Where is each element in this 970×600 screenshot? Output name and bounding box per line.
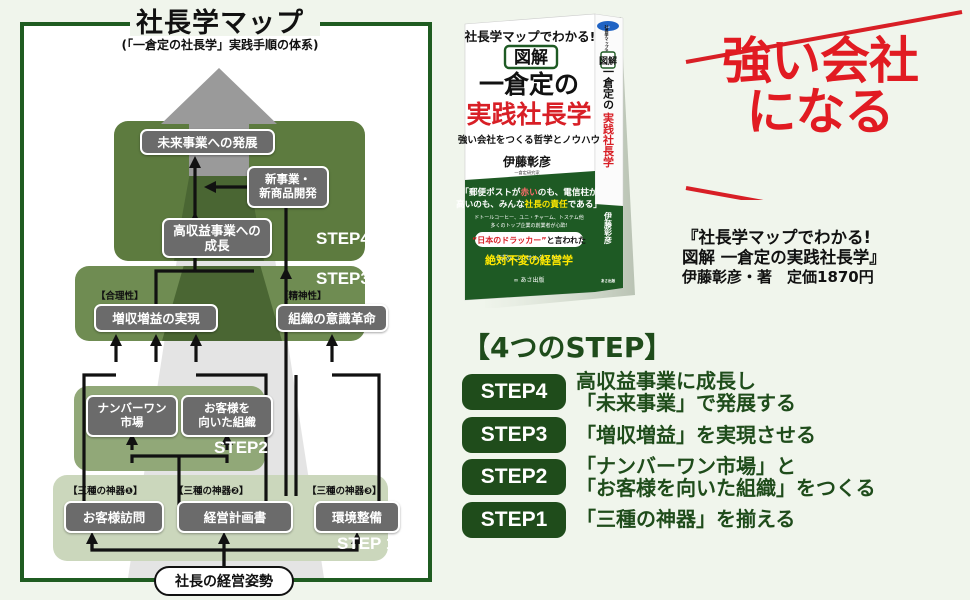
tag-jinki-3: 【三種の神器❸】	[307, 483, 382, 497]
step-desc-2: 「ナンバーワン市場」と 「お客様を向いた組織」をつくる	[576, 455, 876, 500]
node-business-plan: 経営計画書	[177, 501, 293, 533]
step-list-item[interactable]: STEP2 「ナンバーワン市場」と 「お客様を向いた組織」をつくる	[458, 455, 970, 500]
svg-text:“日本のドラッカー”と言われた: “日本のドラッカー”と言われた	[472, 235, 586, 245]
svg-text:多くのトップ企業の創業者が心酔!: 多くのトップ企業の創業者が心酔!	[490, 222, 567, 229]
caption-line-3: 伊藤彰彦・著 定価1870円	[682, 268, 970, 286]
svg-text:∞ あさ出版: ∞ あさ出版	[514, 276, 545, 284]
svg-text:実践社長学: 実践社長学	[602, 111, 616, 168]
book-title-2: 実践社長学	[466, 100, 591, 129]
page-title: 社長学マップ	[0, 1, 440, 40]
tag-jinki-1: 【三種の神器❶】	[68, 483, 143, 497]
node-revenue-growth: 増収増益の実現	[94, 304, 218, 332]
step1-label: STEP 1	[337, 534, 395, 554]
step-list-item[interactable]: STEP4 高収益事業に成長し 「未来事業」で発展する	[458, 370, 970, 415]
step4-label: STEP4	[316, 229, 370, 249]
node-president-stance: 社長の経営姿勢	[154, 566, 294, 596]
svg-text:絶対不変の経営学: 絶対不変の経営学	[485, 253, 573, 267]
tag-jinki-2: 【三種の神器❷】	[174, 483, 249, 497]
svg-text:ドトールコーヒー、ユニ・チャーム、トステム他: ドトールコーヒー、ユニ・チャーム、トステム他	[474, 214, 584, 221]
node-future-business: 未来事業への発展	[140, 129, 275, 155]
page-subtitle: (「一倉定の社長学」実践手順の体系)	[0, 36, 440, 53]
step-desc-4: 高収益事業に成長し 「未来事業」で発展する	[576, 370, 796, 415]
node-org-revolution: 組織の意識革命	[276, 304, 388, 332]
step-list-panel: 【4つのSTEP】 STEP4 高収益事業に成長し 「未来事業」で発展する ST…	[458, 326, 970, 600]
book-zukai: 図解	[514, 47, 548, 68]
book-caption: 『社長学マップでわかる! 図解 一倉定の実践社長学』 伊藤彰彦・著 定価1870…	[682, 228, 970, 287]
node-customer-org: お客様を向いた組織	[181, 395, 273, 437]
diagram-canvas: STEP4 STEP3 STEP2 STEP 1 【合理性】 【精神性】 【三種…	[24, 26, 428, 578]
svg-text:一倉定の: 一倉定の	[602, 66, 616, 110]
step-list-item[interactable]: STEP1 「三種の神器」を揃える	[458, 502, 970, 538]
svg-text:伊藤彰彦: 伊藤彰彦	[603, 211, 613, 245]
node-environment: 環境整備	[314, 501, 400, 533]
headline-block: 強い会社 になる	[676, 0, 970, 200]
step2-label: STEP2	[214, 438, 268, 458]
step-desc-3: 「増収増益」を実現させる	[576, 424, 816, 446]
step3-label: STEP3	[316, 269, 370, 289]
step-desc-1: 「三種の神器」を揃える	[576, 508, 795, 530]
svg-text:あさ出版: あさ出版	[601, 278, 616, 283]
book-cover-image: ∞ 社長学マップでわかる! 図解 一倉定の 実践社長学 強い会社をつくる哲学とノ…	[455, 8, 640, 308]
book-band-top: 社長学マップでわかる!	[464, 29, 596, 44]
step-list-title: 【4つのSTEP】	[462, 326, 970, 366]
book-tagline: 強い会社をつくる哲学とノウハウ	[458, 134, 600, 146]
svg-text:高いのも、みんな社長の責任である」: 高いのも、みんな社長の責任である」	[456, 198, 602, 210]
step-list-item[interactable]: STEP3 「増収増益」を実現させる	[458, 417, 970, 453]
caption-line-2: 図解 一倉定の実践社長学』	[682, 248, 970, 268]
headline-text: 強い会社 になる	[676, 36, 964, 138]
node-high-profit: 高収益事業への成長	[162, 218, 272, 258]
step-badge-2: STEP2	[462, 459, 566, 495]
node-new-business: 新事業・新商品開発	[247, 166, 329, 208]
headline-line-1: 強い会社	[676, 36, 964, 87]
book-author: 伊藤彰彦	[502, 154, 551, 169]
tag-rationality: 【合理性】	[96, 288, 144, 302]
svg-text:「郵便ポストが赤いのも、電信柱が: 「郵便ポストが赤いのも、電信柱が	[460, 186, 598, 198]
book-title-1: 一倉定の	[479, 70, 579, 99]
node-customer-visit: お客様訪問	[64, 501, 164, 533]
caption-line-1: 『社長学マップでわかる!	[682, 228, 970, 248]
headline-line-2: になる	[676, 87, 964, 138]
step-badge-4: STEP4	[462, 374, 566, 410]
book-author-sub: 一倉定研究家	[514, 169, 540, 176]
step-badge-1: STEP1	[462, 502, 566, 538]
shachogaku-map-panel: 社長学マップ (「一倉定の社長学」実践手順の体系)	[0, 0, 440, 600]
node-number-one-market: ナンバーワン市場	[86, 395, 178, 437]
step-badge-3: STEP3	[462, 417, 566, 453]
tag-spirituality: 【精神性】	[279, 288, 327, 302]
